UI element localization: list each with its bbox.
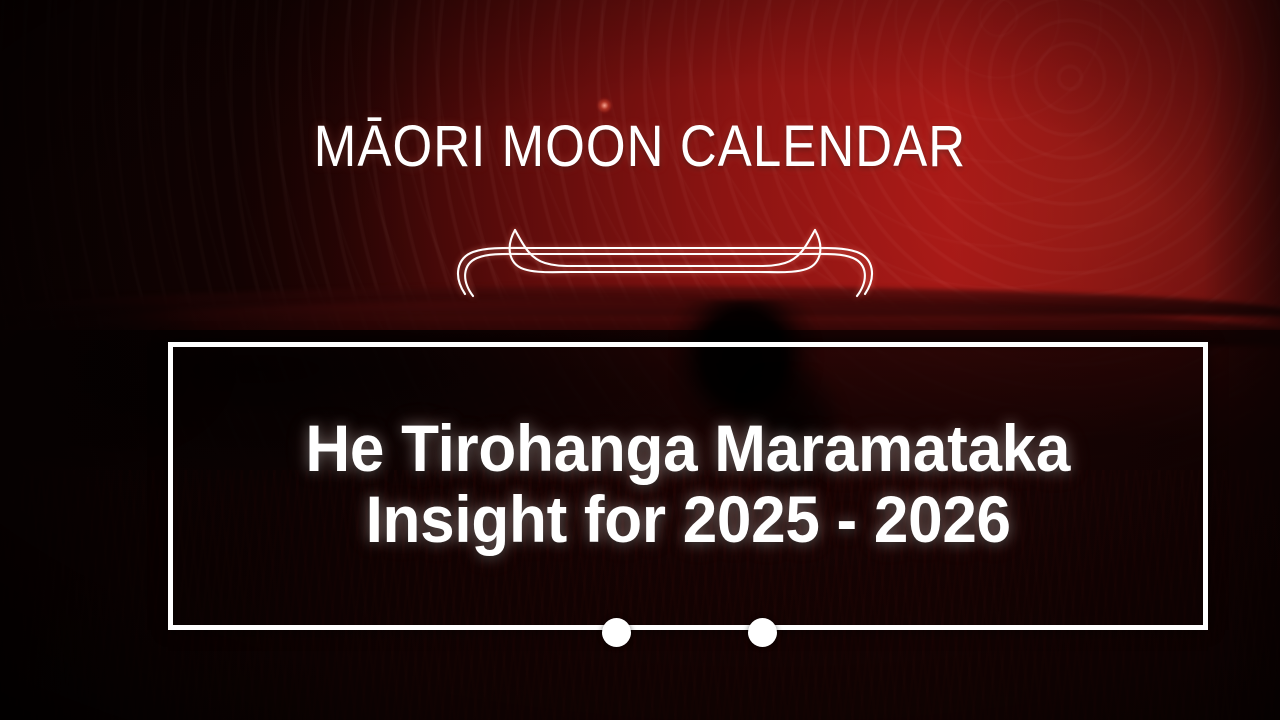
headline-frame: He Tirohanga Maramataka Insight for 2025…	[168, 342, 1208, 630]
poster-canvas: MĀORI MOON CALENDAR He Tirohanga Maramat…	[0, 0, 1280, 720]
poster-kicker-title: MĀORI MOON CALENDAR	[77, 118, 1203, 176]
frame-dot-1	[602, 618, 631, 647]
headline-frame-inner: He Tirohanga Maramataka Insight for 2025…	[173, 347, 1203, 625]
headline-line-1: He Tirohanga Maramataka	[306, 413, 1071, 484]
headline-line-2: Insight for 2025 - 2026	[365, 484, 1010, 555]
frame-dot-2	[748, 618, 777, 647]
